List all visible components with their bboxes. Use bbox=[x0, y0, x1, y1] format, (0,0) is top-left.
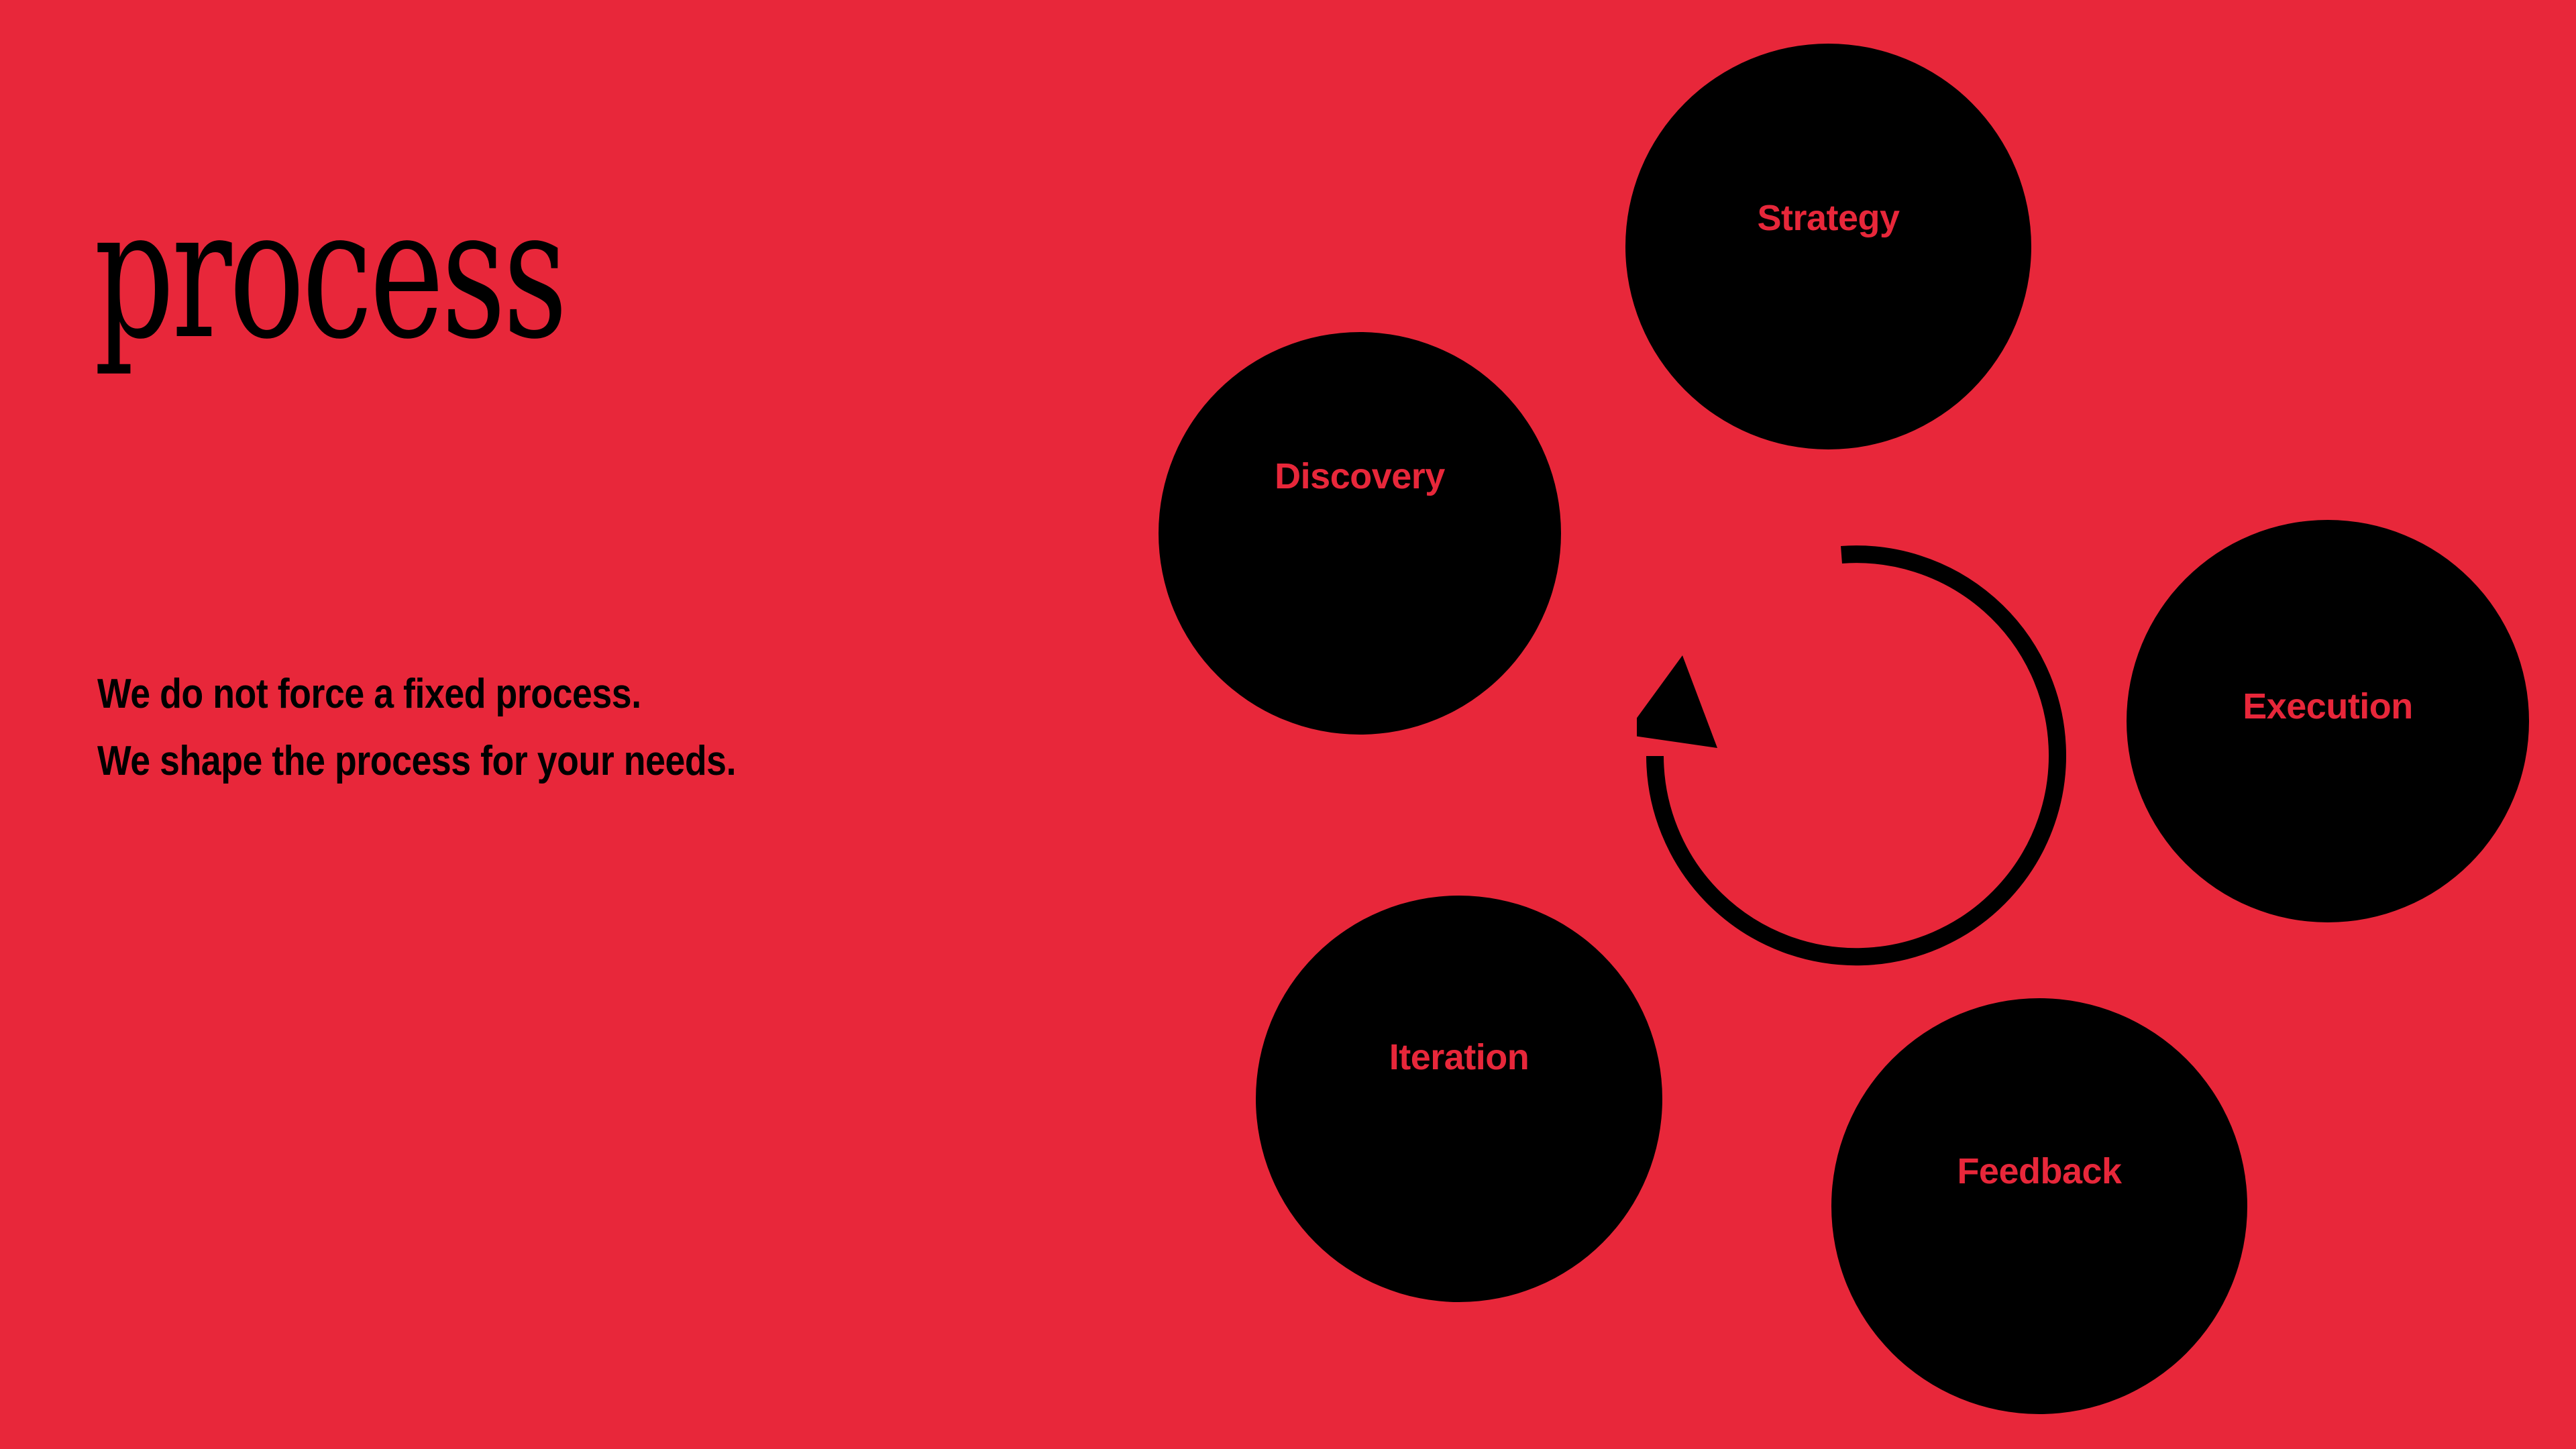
process-node-strategy[interactable]: Strategy bbox=[1625, 44, 2031, 449]
lead-copy-line-1: We do not force a fixed process. bbox=[97, 661, 736, 728]
process-node-feedback[interactable]: Feedback bbox=[1831, 998, 2247, 1414]
process-node-label: Discovery bbox=[1275, 455, 1445, 497]
process-node-label: Strategy bbox=[1757, 197, 1899, 239]
page-title: process bbox=[94, 184, 565, 364]
process-node-iteration[interactable]: Iteration bbox=[1256, 896, 1662, 1302]
process-node-discovery[interactable]: Discovery bbox=[1159, 332, 1561, 735]
lead-copy: We do not force a fixed process. We shap… bbox=[97, 661, 736, 795]
cycle-arrow-icon bbox=[1637, 540, 2080, 1023]
lead-copy-line-2: We shape the process for your needs. bbox=[97, 728, 736, 795]
slide-canvas: process We do not force a fixed process.… bbox=[0, 0, 2576, 1449]
process-node-label: Feedback bbox=[1957, 1150, 2121, 1192]
process-node-label: Execution bbox=[2243, 686, 2413, 727]
process-node-execution[interactable]: Execution bbox=[2127, 520, 2529, 922]
process-node-label: Iteration bbox=[1389, 1036, 1529, 1078]
